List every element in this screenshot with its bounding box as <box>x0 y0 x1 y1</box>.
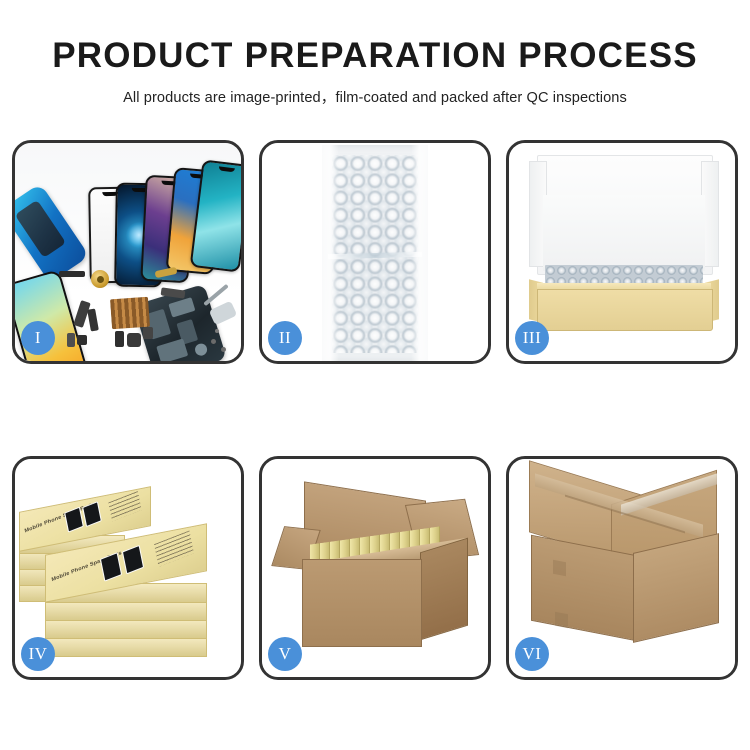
step-panel-1: I <box>12 140 244 364</box>
step-panel-5: V <box>259 456 491 680</box>
step-badge-2: II <box>268 321 302 355</box>
screw-icon <box>211 339 216 344</box>
step-badge-1: I <box>21 321 55 355</box>
carton-front-face <box>302 559 422 647</box>
box-spec-lines <box>154 530 194 566</box>
small-part-icon <box>143 327 153 339</box>
wrap-edge-highlight <box>322 145 428 361</box>
step-panel-3: III <box>506 140 738 364</box>
carton-side-face <box>420 538 468 641</box>
phone-image-on-box <box>82 501 102 527</box>
flex-cable-icon <box>59 271 85 277</box>
phone-image-on-box <box>122 545 144 575</box>
box-spec-lines <box>108 491 141 521</box>
bubble-wrap-sheet-icon <box>322 145 428 361</box>
gold-connector-icon <box>155 267 178 278</box>
step-panel-4: Mobile Phone Spare Parts Mobile Phone Sp… <box>12 456 244 680</box>
sealed-carton-icon <box>525 483 725 655</box>
small-part-icon <box>77 335 87 345</box>
copper-grid-board-icon <box>110 297 150 330</box>
carton-handle-notch <box>553 560 566 577</box>
coil-center-icon <box>97 276 104 283</box>
step-panel-2: II <box>259 140 491 364</box>
small-part-icon <box>127 333 141 347</box>
infographic-page: PRODUCT PREPARATION PROCESS All products… <box>0 0 750 750</box>
retail-box <box>45 637 207 657</box>
retail-box <box>45 601 207 621</box>
screw-icon <box>215 329 219 333</box>
open-mailer-box-icon <box>529 153 719 333</box>
open-carton-icon <box>280 483 476 653</box>
step-badge-3: III <box>515 321 549 355</box>
step-badge-4: IV <box>21 637 55 671</box>
step-badge-5: V <box>268 637 302 671</box>
screw-icon <box>221 347 226 352</box>
process-steps-grid: I II <box>12 140 738 680</box>
retail-box <box>45 619 207 639</box>
page-subtitle: All products are image-printed，film-coat… <box>0 86 750 107</box>
step-badge-6: VI <box>515 637 549 671</box>
tool-icon <box>209 301 238 326</box>
flex-cable-icon <box>161 287 186 298</box>
mailer-front-wall <box>537 289 713 331</box>
header: PRODUCT PREPARATION PROCESS All products… <box>0 0 750 107</box>
small-part-icon <box>67 333 75 347</box>
page-title: PRODUCT PREPARATION PROCESS <box>0 38 750 73</box>
small-part-icon <box>115 331 124 347</box>
step-panel-6: VI <box>506 456 738 680</box>
mailer-inner-wall <box>543 195 705 271</box>
carton-right-face <box>633 533 719 643</box>
carton-handle-notch <box>555 612 568 629</box>
flex-cable-icon <box>87 308 99 331</box>
